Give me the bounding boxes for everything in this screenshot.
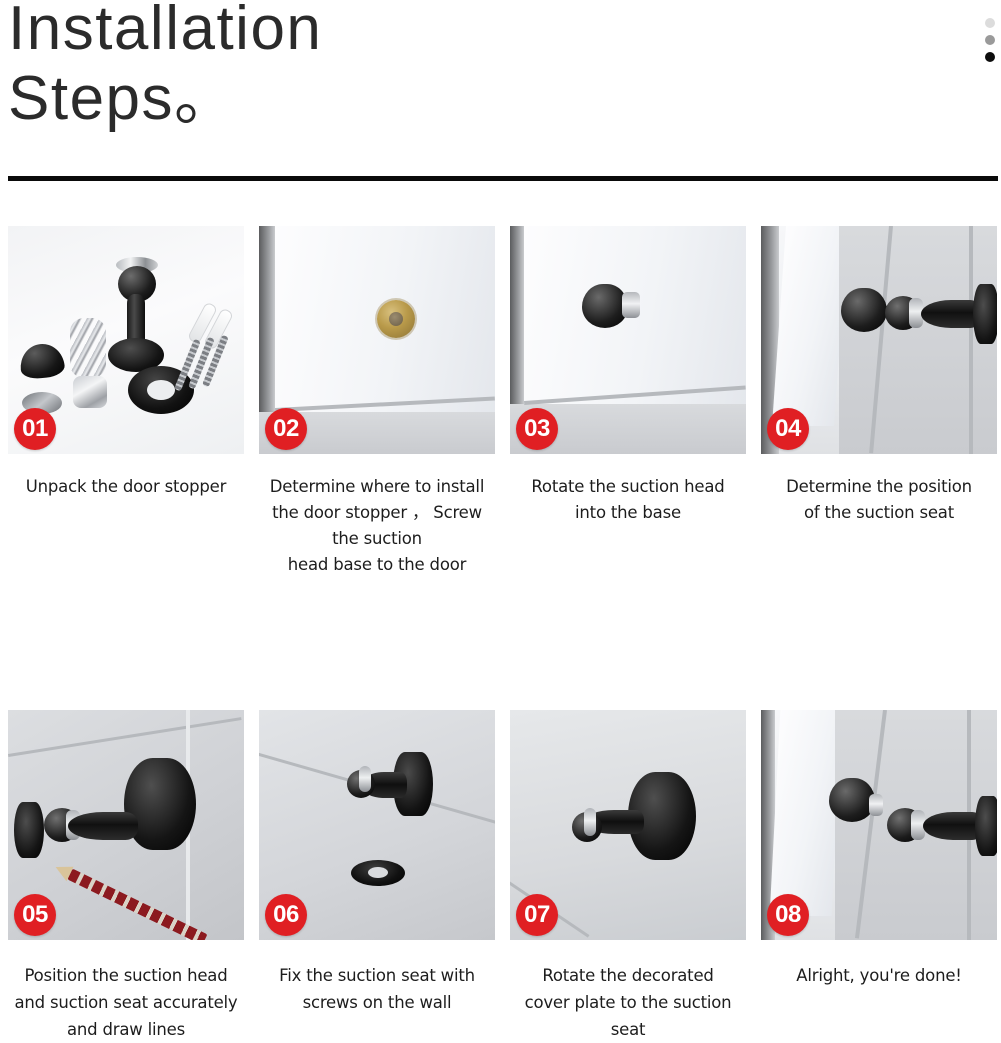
step-photo-03[interactable]: 03 bbox=[510, 226, 746, 454]
step-cell-06: 06 Fix the suction seat with screws on t… bbox=[259, 710, 495, 1043]
head-knob-base bbox=[14, 802, 44, 858]
step-caption-01: Unpack the door stopper bbox=[8, 474, 244, 500]
suction-head-chrome-collar bbox=[622, 292, 640, 318]
suction-head-assembly-part bbox=[108, 266, 164, 374]
step-caption-06: Fix the suction seat with screws on the … bbox=[259, 962, 495, 1016]
step-caption-04: Determine the position of the suction se… bbox=[761, 474, 997, 526]
title-divider-rule bbox=[8, 176, 998, 181]
suction-head-base-mounted bbox=[377, 300, 415, 338]
step-cell-05: 05 Position the suction head and suction… bbox=[8, 710, 244, 1043]
step-badge-02: 02 bbox=[265, 408, 307, 450]
step-cell-02: 02 Determine where to install the door s… bbox=[259, 226, 495, 578]
page-header: Installation Steps。 bbox=[0, 0, 1001, 182]
seat-neck bbox=[921, 300, 981, 328]
step-badge-07: 07 bbox=[516, 894, 558, 936]
step-badge-05: 05 bbox=[14, 894, 56, 936]
step-photo-01[interactable]: 01 bbox=[8, 226, 244, 454]
head-neck bbox=[68, 812, 138, 840]
seat-chrome-ring bbox=[584, 808, 596, 836]
step-badge-06: 06 bbox=[265, 894, 307, 936]
installation-steps-grid: 01 Unpack the door stopper 02 Determine … bbox=[8, 226, 998, 1043]
step-caption-05: Position the suction head and suction se… bbox=[8, 962, 244, 1043]
step-photo-07[interactable]: 07 bbox=[510, 710, 746, 940]
seat-base bbox=[975, 796, 997, 856]
rubber-cone-part bbox=[18, 342, 65, 380]
step-photo-06[interactable]: 06 bbox=[259, 710, 495, 940]
seat-chrome-ring bbox=[359, 766, 371, 792]
suction-head-assembly bbox=[14, 792, 134, 852]
step-photo-05[interactable]: 05 bbox=[8, 710, 244, 940]
pagination-dot-3-active[interactable] bbox=[985, 52, 995, 62]
suction-seat-assembly bbox=[879, 284, 997, 344]
step-photo-08[interactable]: 08 bbox=[761, 710, 997, 940]
step-cell-07: 07 Rotate the decorated cover plate to t… bbox=[510, 710, 746, 1043]
step-badge-03: 03 bbox=[516, 408, 558, 450]
white-door-panel bbox=[770, 710, 843, 916]
suction-seat-assembly bbox=[881, 796, 997, 856]
step-badge-08: 08 bbox=[767, 894, 809, 936]
seat-neck bbox=[923, 812, 983, 840]
pagination-dot-2[interactable] bbox=[985, 35, 995, 45]
step-caption-03: Rotate the suction head into the base bbox=[510, 474, 746, 526]
pagination-dot-1[interactable] bbox=[985, 18, 995, 28]
step-caption-02: Determine where to install the door stop… bbox=[259, 474, 495, 578]
carousel-pagination[interactable] bbox=[985, 18, 995, 62]
seat-base bbox=[973, 284, 997, 344]
spring-part bbox=[70, 318, 106, 378]
step-photo-04[interactable]: 04 bbox=[761, 226, 997, 454]
step-caption-08: Alright, you're done! bbox=[761, 962, 997, 989]
step-cell-08: 08 Alright, you're done! bbox=[761, 710, 997, 1043]
step-cell-01: 01 Unpack the door stopper bbox=[8, 226, 244, 578]
step-badge-01: 01 bbox=[14, 408, 56, 450]
chrome-nut-part bbox=[73, 376, 107, 408]
white-door-panel bbox=[772, 226, 848, 426]
page-title: Installation Steps。 bbox=[8, 0, 828, 134]
decorative-washer-ring bbox=[351, 860, 405, 886]
step-cell-04: 04 Determine the position of the suction… bbox=[761, 226, 997, 578]
step-photo-02[interactable]: 02 bbox=[259, 226, 495, 454]
step-caption-07: Rotate the decorated cover plate to the … bbox=[510, 962, 746, 1043]
step-cell-03: 03 Rotate the suction head into the base bbox=[510, 226, 746, 578]
step-badge-04: 04 bbox=[767, 408, 809, 450]
